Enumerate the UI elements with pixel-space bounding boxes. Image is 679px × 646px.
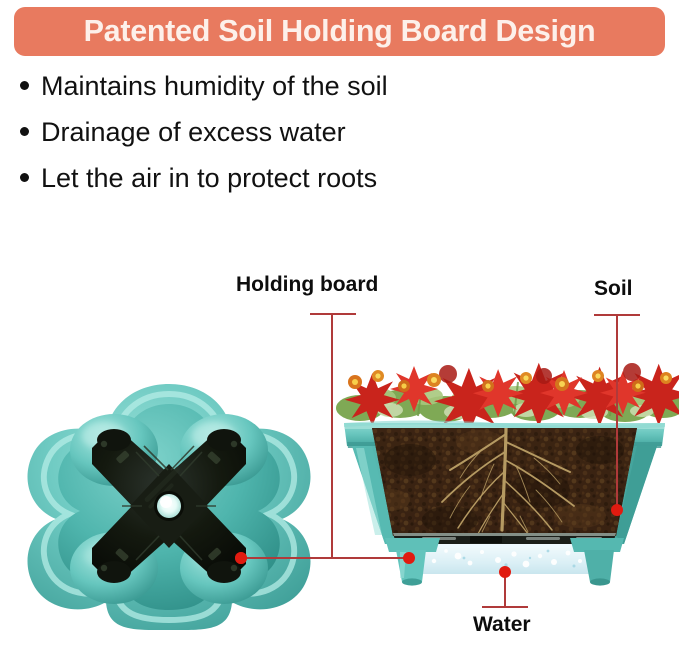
holding-board-leader-horizontal bbox=[240, 557, 410, 559]
feature-list: Maintains humidity of the soil Drainage … bbox=[20, 72, 540, 210]
callout-label-soil: Soil bbox=[594, 278, 633, 299]
list-item: Drainage of excess water bbox=[20, 118, 540, 164]
callout-label-water: Water bbox=[473, 614, 531, 635]
list-item: Maintains humidity of the soil bbox=[20, 72, 540, 118]
holding-board-leader-cap bbox=[310, 313, 356, 315]
water-marker-dot bbox=[499, 566, 511, 578]
water-leader-cap bbox=[482, 606, 528, 608]
page-title: Patented Soil Holding Board Design bbox=[84, 16, 596, 47]
bullet-dot-icon bbox=[20, 127, 29, 136]
bullet-dot-icon bbox=[20, 81, 29, 90]
holding-board-marker-dot-right bbox=[403, 552, 415, 564]
clover-planter-top-view-image bbox=[18, 378, 320, 636]
soil-leader-vertical bbox=[616, 314, 618, 512]
feature-text: Let the air in to protect roots bbox=[41, 164, 377, 192]
feature-text: Drainage of excess water bbox=[41, 118, 346, 146]
soil-marker-dot bbox=[611, 504, 623, 516]
holding-board-leader-vertical bbox=[331, 313, 333, 559]
bullet-dot-icon bbox=[20, 173, 29, 182]
list-item: Let the air in to protect roots bbox=[20, 164, 540, 210]
header-banner: Patented Soil Holding Board Design bbox=[14, 7, 665, 56]
feature-text: Maintains humidity of the soil bbox=[41, 72, 388, 100]
holding-board-marker-dot-left bbox=[235, 552, 247, 564]
soil-layer bbox=[360, 424, 650, 544]
callout-label-holding-board: Holding board bbox=[236, 274, 378, 295]
infographic-page: Patented Soil Holding Board Design Maint… bbox=[0, 0, 679, 646]
